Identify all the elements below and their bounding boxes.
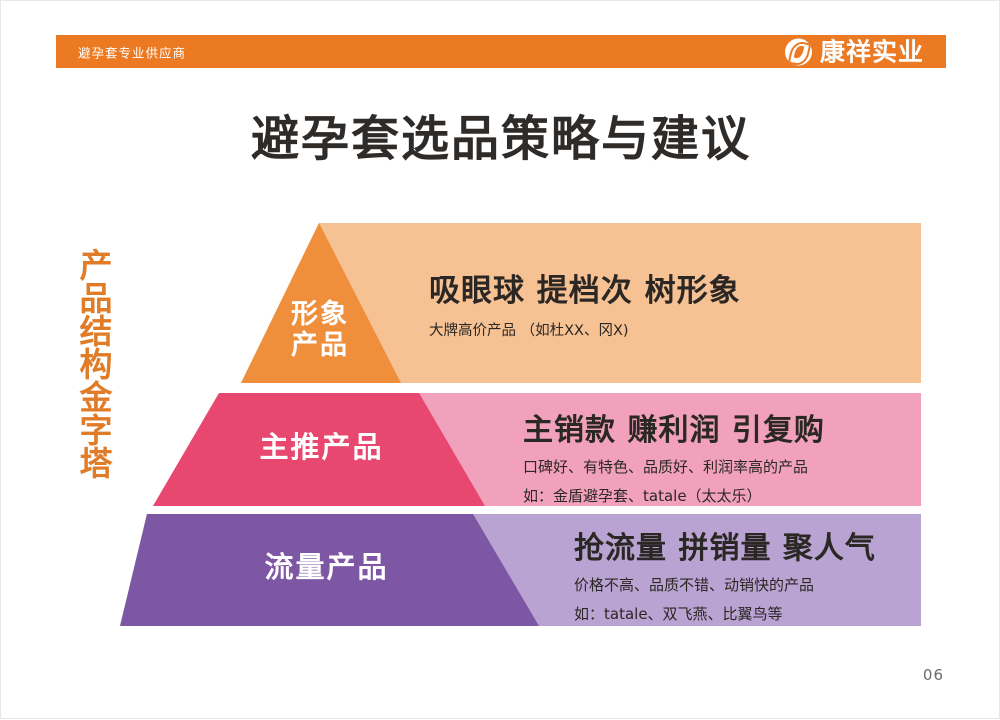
tier-3-label: 流量产品: [244, 551, 409, 584]
page-number: 06: [923, 666, 944, 684]
header-band: 避孕套专业供应商 康祥实业: [56, 35, 946, 68]
tier-3-sub-line-2: 如：tatale、双飞燕、比翼鸟等: [574, 602, 876, 627]
tier-2-body: 主销款 赚利润 引复购 口碑好、有特色、品质好、利润率高的产品 如：金盾避孕套、…: [523, 413, 825, 509]
tier-1-label: 形象 产品: [269, 299, 371, 361]
brand-name: 康祥实业: [820, 39, 924, 64]
tier-2-label: 主推产品: [239, 431, 404, 464]
vertical-caption-pyramid-structure: 产品结构金字塔: [59, 223, 111, 503]
header-tagline: 避孕套专业供应商: [78, 42, 186, 61]
tier-2-sub-line-1: 口碑好、有特色、品质好、利润率高的产品: [523, 455, 825, 480]
slide-canvas: 避孕套专业供应商 康祥实业 避孕套选品策略与建议 产品结构金字塔 形象 产品 吸…: [0, 0, 1000, 719]
tier-3-body: 抢流量 拼销量 聚人气 价格不高、品质不错、动销快的产品 如：tatale、双飞…: [574, 531, 876, 627]
tier-1-sub-line-1: 大牌高价产品 （如杜XX、冈X): [429, 320, 741, 344]
tier-2-sub-line-2: 如：金盾避孕套、tatale（太太乐）: [523, 484, 825, 509]
tier-1-label-line2: 产品: [269, 330, 371, 361]
brand-block: 康祥实业: [785, 38, 924, 65]
tier-3-headline: 抢流量 拼销量 聚人气: [574, 531, 876, 567]
page-title: 避孕套选品策略与建议: [1, 111, 1000, 169]
tier-3-sub-line-1: 价格不高、品质不错、动销快的产品: [574, 573, 876, 598]
tier-2-headline: 主销款 赚利润 引复购: [523, 413, 825, 449]
leaf-swirl-logo-icon: [785, 38, 812, 65]
tier-1-label-line1: 形象: [269, 299, 371, 330]
tier-1-body: 吸眼球 提档次 树形象 大牌高价产品 （如杜XX、冈X): [429, 273, 741, 344]
tier-1-headline: 吸眼球 提档次 树形象: [429, 273, 741, 310]
